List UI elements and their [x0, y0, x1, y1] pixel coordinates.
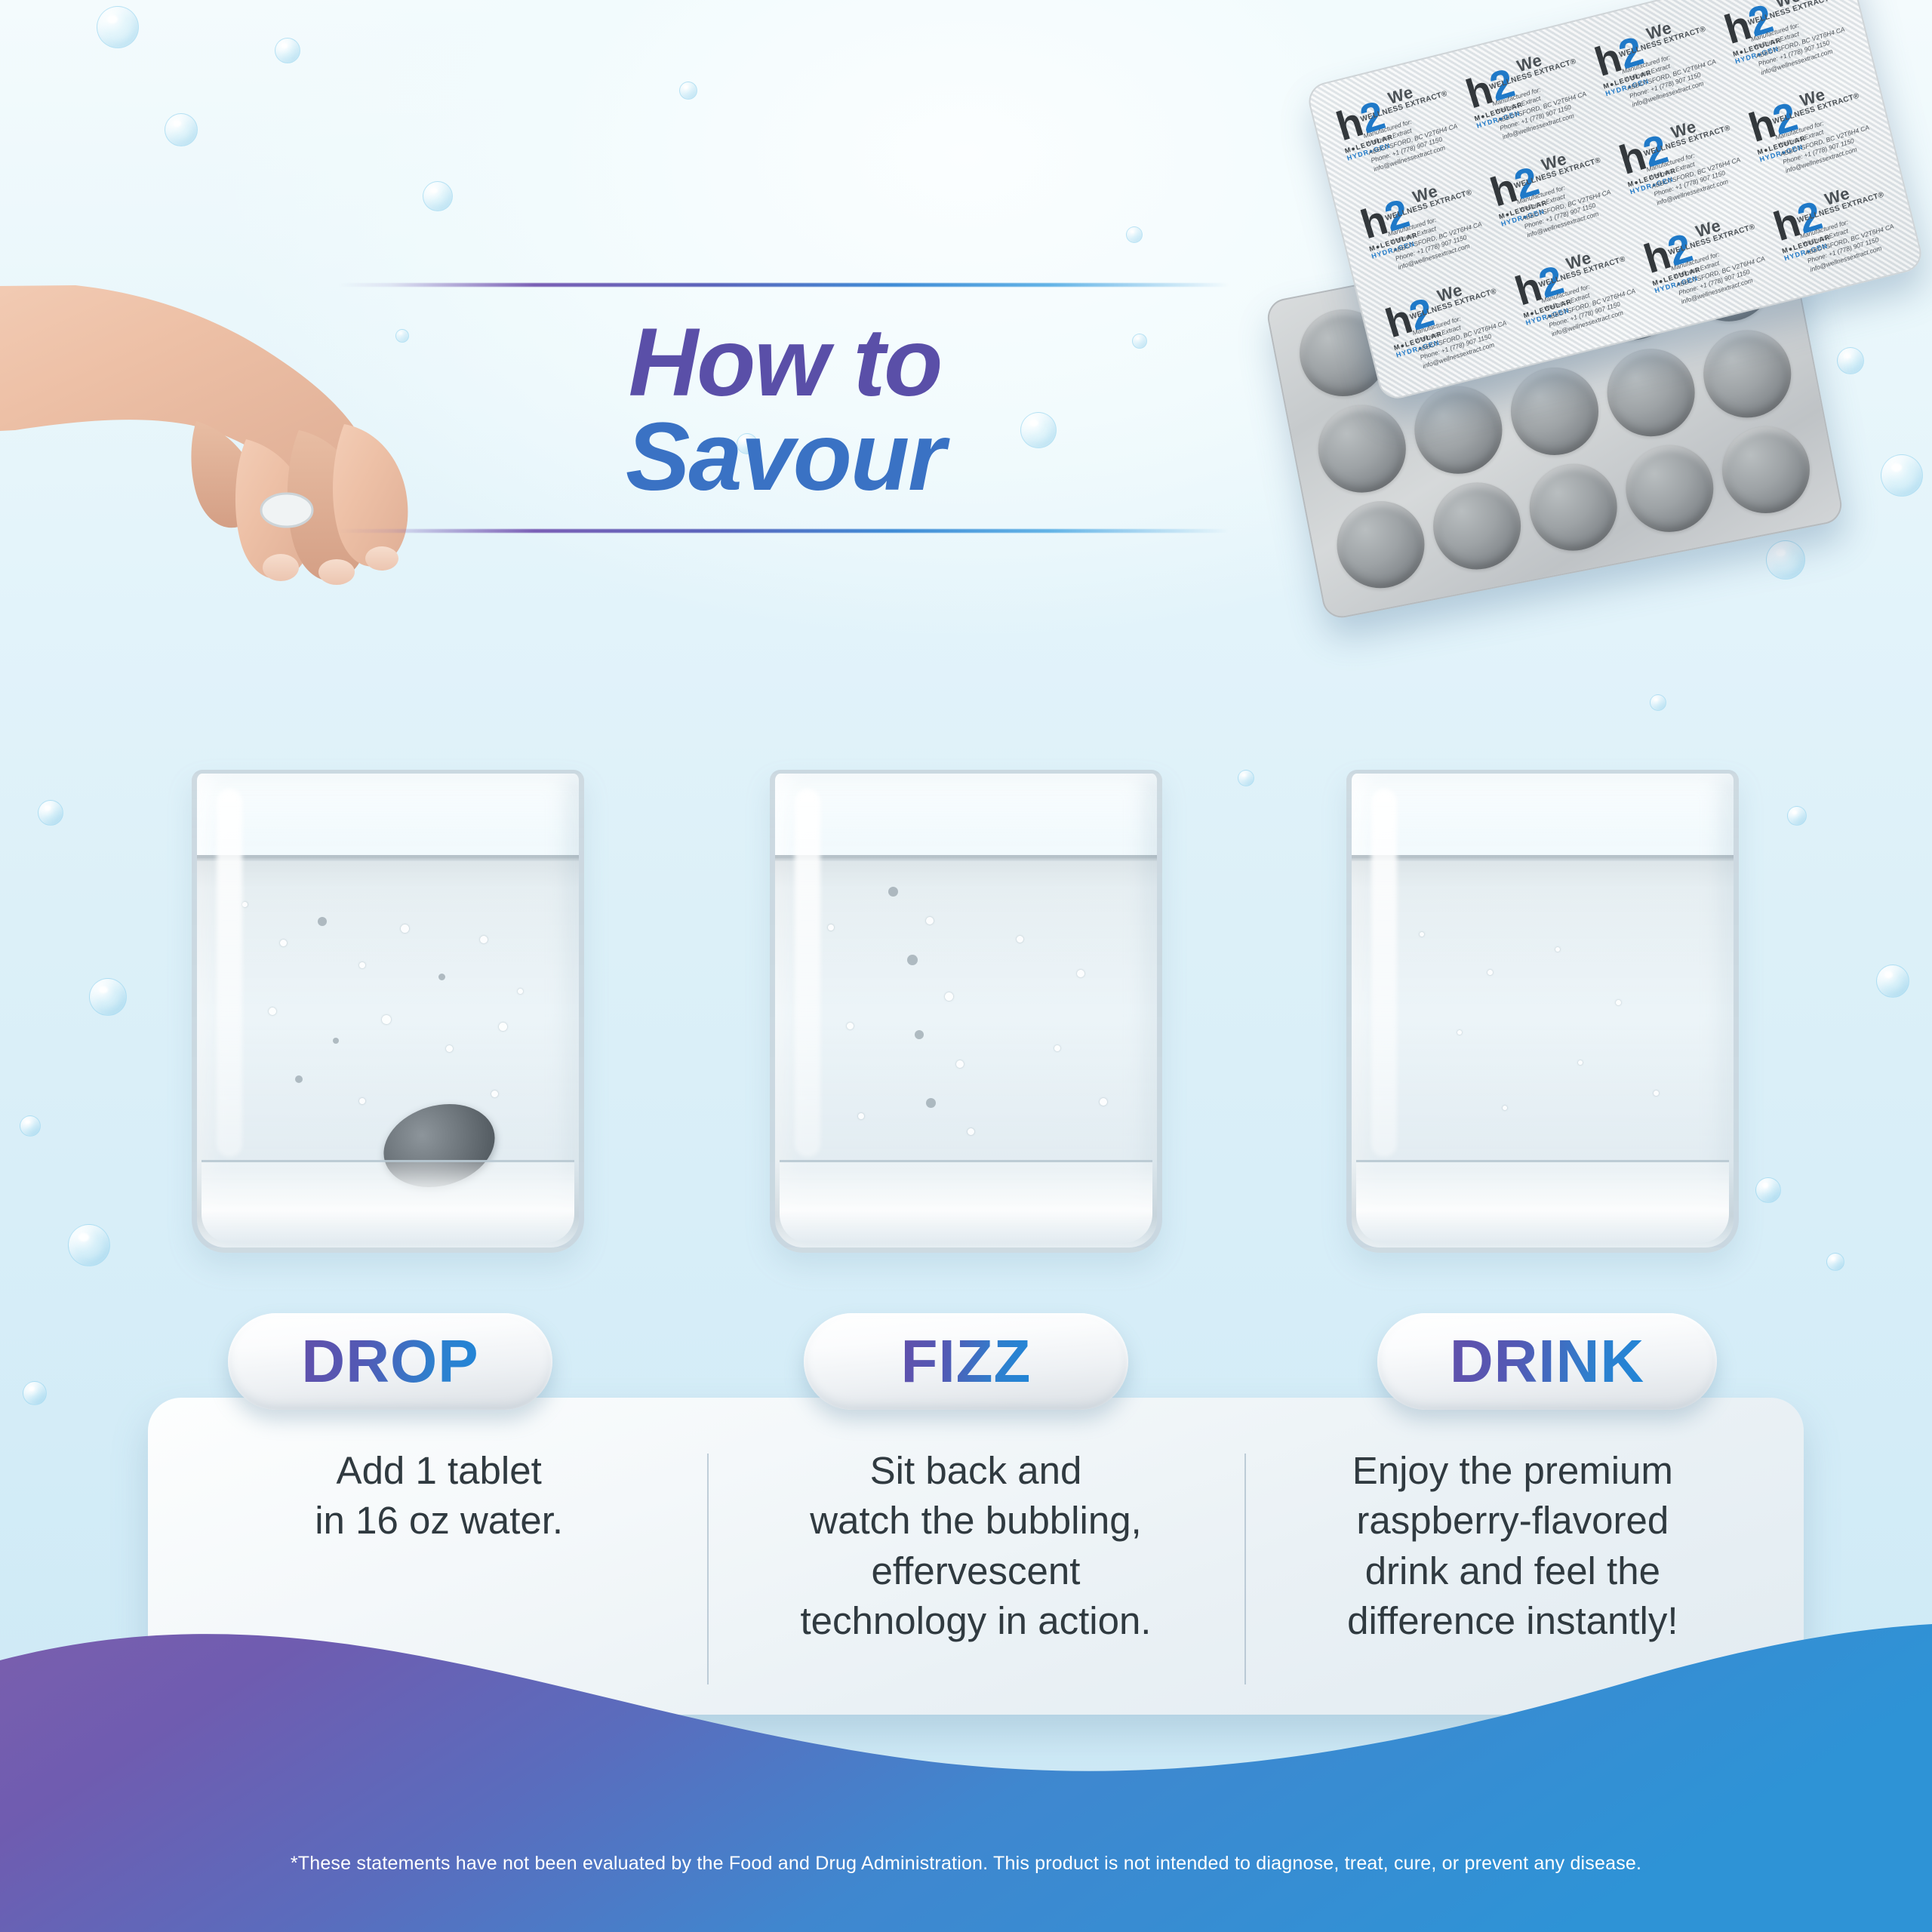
glass-highlight	[1371, 789, 1397, 1157]
page-title-line1: How to	[408, 314, 1162, 413]
header-block: How to Savour	[408, 283, 1162, 533]
step-pill-label-drink: DRINK	[1450, 1327, 1644, 1396]
fingernail	[318, 559, 355, 585]
fingernail	[365, 546, 398, 571]
glass-body	[770, 770, 1162, 1253]
foil-print-grid: h2 M●LECULAR HYDR●GEN We WELLNESS EXTRAC…	[1322, 0, 1907, 387]
step-pill-label-drop: DROP	[301, 1327, 478, 1396]
glass-drop	[192, 770, 584, 1253]
glass-body	[192, 770, 584, 1253]
step-pill-drop[interactable]: DROP	[228, 1313, 552, 1410]
water-surface-line	[775, 855, 1157, 861]
glass-fizz	[770, 770, 1162, 1253]
tablet-pocket	[1618, 437, 1721, 539]
glass-base	[780, 1160, 1152, 1243]
water-surface-line	[197, 855, 579, 861]
page-title-line2: Savour	[408, 408, 1162, 507]
blister-pack-foil: h2 M●LECULAR HYDR●GEN We WELLNESS EXTRAC…	[1305, 0, 1925, 402]
fingernail	[263, 554, 299, 581]
glass-highlight	[217, 789, 242, 1157]
tablet-pocket	[1330, 494, 1432, 595]
step-pill-label-fizz: FIZZ	[901, 1327, 1032, 1396]
glass-row	[0, 770, 1932, 1298]
bubble-decoration	[97, 6, 139, 48]
glass-drink	[1346, 770, 1739, 1253]
instruction-text-drop: Add 1 tablet in 16 oz water.	[315, 1446, 563, 1546]
step-pill-drink[interactable]: DRINK	[1377, 1313, 1717, 1410]
glass-highlight	[795, 789, 820, 1157]
bubble-decoration	[275, 38, 300, 63]
water-surface-line	[1352, 855, 1734, 861]
bubble-decoration	[1126, 226, 1143, 243]
divider-rule-top	[338, 283, 1229, 287]
tablet-pocket	[1696, 323, 1798, 425]
glass-base	[1356, 1160, 1729, 1243]
divider-rule-bottom	[338, 529, 1229, 533]
glass-base	[202, 1160, 574, 1243]
hand-dropping-tablet	[0, 181, 453, 649]
tablet-pocket	[1522, 456, 1625, 558]
step-pill-row: DROP FIZZ DRINK	[0, 1313, 1932, 1426]
tablet-pocket	[1600, 342, 1703, 444]
tablet-pocket	[1311, 398, 1414, 500]
step-pill-fizz[interactable]: FIZZ	[804, 1313, 1128, 1410]
blister-pack-group: h2 M●LECULAR HYDR●GEN We WELLNESS EXTRAC…	[1223, 0, 1932, 785]
tablet-pocket	[1407, 379, 1509, 481]
ring-finger	[333, 424, 408, 567]
tablet-pocket	[1426, 475, 1528, 577]
glass-body	[1346, 770, 1739, 1253]
tablet-pocket	[1715, 419, 1817, 521]
tablet-pocket	[1503, 360, 1606, 462]
fda-disclaimer-text: *These statements have not been evaluate…	[0, 1853, 1932, 1875]
bubble-decoration	[679, 82, 697, 100]
held-tablet	[261, 494, 312, 527]
bottom-wave-band	[0, 1607, 1932, 1932]
bubble-decoration	[165, 113, 198, 146]
